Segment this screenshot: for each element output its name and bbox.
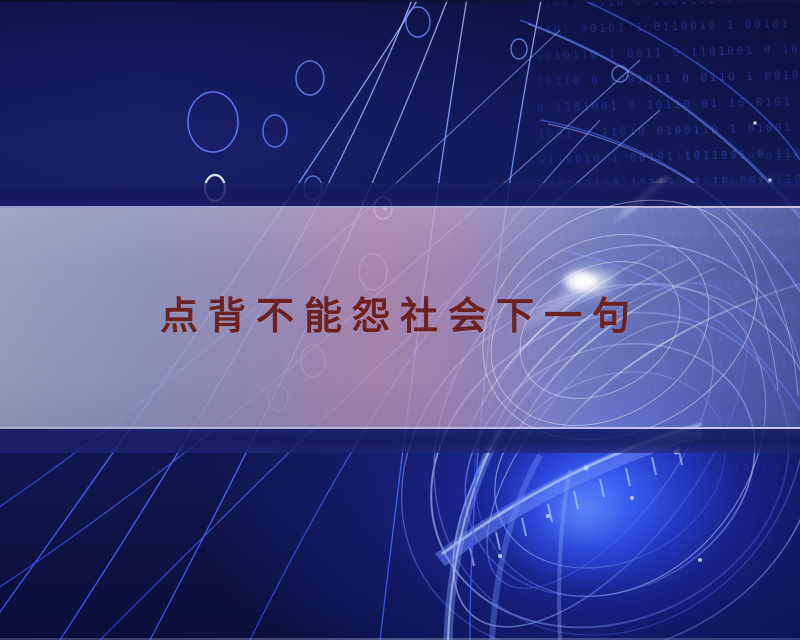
banner-image: 01001 0110 0 1001101 0 11010 0100110 1 1… xyxy=(0,0,800,640)
banner-bottom-dark-band xyxy=(0,429,800,453)
banner-top-dark-band xyxy=(0,183,800,208)
top-edge-line xyxy=(0,0,800,2)
page-title: 点背不能怨社会下一句 xyxy=(160,294,640,338)
